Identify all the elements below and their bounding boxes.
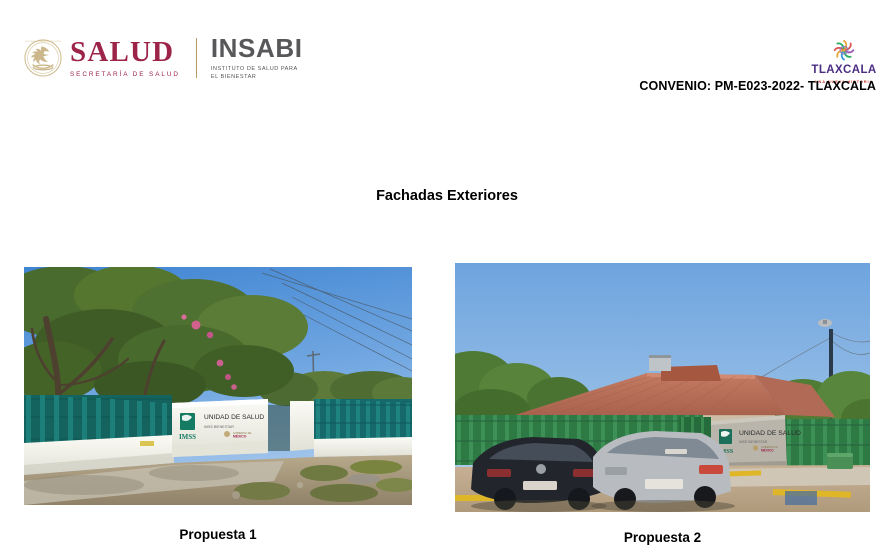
photo-propuesta-1: IMSS UNIDAD DE SALUD IMSS BIENESTAR GOBI… xyxy=(24,267,412,505)
svg-text:UNIDAD DE SALUD: UNIDAD DE SALUD xyxy=(739,430,801,437)
section-title: Fachadas Exteriores xyxy=(0,188,894,204)
insabi-subtitle: INSTITUTO DE SALUD PARA EL BIENESTAR xyxy=(211,65,301,82)
photo-propuesta-2: IMSS UNIDAD DE SALUD IMSS BIENESTAR GOBI… xyxy=(455,263,870,512)
photo-caption-1: Propuesta 1 xyxy=(24,527,412,542)
tlaxcala-word: TLAXCALA xyxy=(810,65,878,77)
svg-text:ESTADOS UNIDOS MEXICANOS: ESTADOS UNIDOS MEXICANOS xyxy=(25,40,62,43)
insabi-word: INSABI xyxy=(211,35,303,61)
photo-caption-2: Propuesta 2 xyxy=(455,530,870,545)
tlaxcala-logo: TLAXCALA UNA NUEVA HISTORIA xyxy=(810,38,878,84)
salud-subtitle: SECRETARÍA DE SALUD xyxy=(70,71,180,78)
tlaxcala-flower-emblem xyxy=(810,38,878,64)
svg-text:MÉXICO: MÉXICO xyxy=(761,447,774,452)
svg-text:IMSS BIENESTAR: IMSS BIENESTAR xyxy=(204,425,234,429)
institutional-logo-group: ESTADOS UNIDOS MEXICANOS SALUD SECRETARÍ… xyxy=(24,34,303,82)
insabi-wordmark: INSABI INSTITUTO DE SALUD PARA EL BIENES… xyxy=(211,35,303,82)
salud-wordmark: SALUD SECRETARÍA DE SALUD xyxy=(70,38,180,78)
salud-word: SALUD xyxy=(70,38,180,67)
svg-text:MÉXICO: MÉXICO xyxy=(233,434,247,439)
svg-text:UNIDAD DE SALUD: UNIDAD DE SALUD xyxy=(204,414,264,421)
mexican-national-eagle-emblem: ESTADOS UNIDOS MEXICANOS xyxy=(24,38,62,78)
logo-divider xyxy=(196,38,197,78)
convenio-label: CONVENIO: PM-E023-2022- TLAXCALA xyxy=(639,79,876,93)
page-header: ESTADOS UNIDOS MEXICANOS SALUD SECRETARÍ… xyxy=(0,0,894,110)
svg-text:IMSS BIENESTAR: IMSS BIENESTAR xyxy=(739,440,768,444)
svg-text:IMSS: IMSS xyxy=(179,433,196,441)
